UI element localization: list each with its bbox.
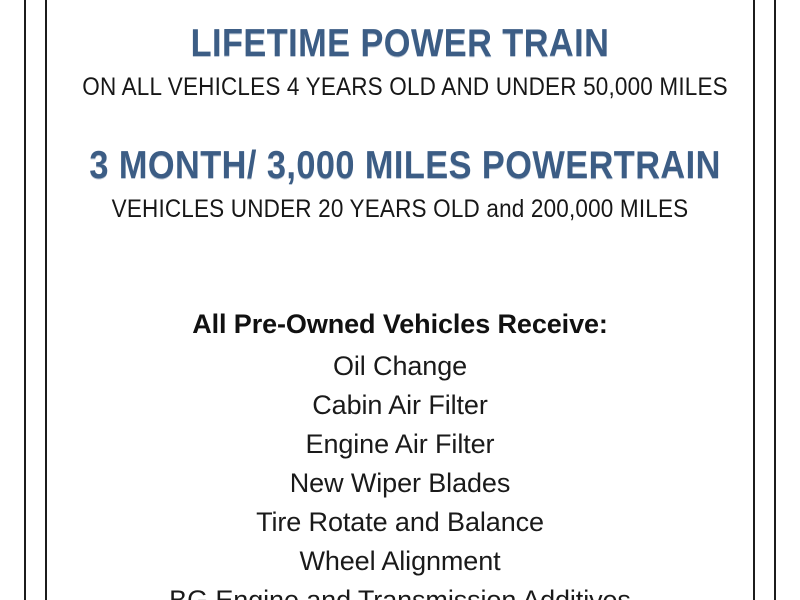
services-section-title: All Pre-Owned Vehicles Receive: [47,308,753,341]
service-item: New Wiper Blades [47,464,753,503]
service-item: Tire Rotate and Balance [47,503,753,542]
frame-rule-left-outer [24,0,26,600]
frame-rule-right-outer [774,0,776,600]
warranty-flyer: LIFETIME POWER TRAIN ON ALL VEHICLES 4 Y… [0,0,800,600]
service-item: Oil Change [47,347,753,386]
frame-rule-right-inner [753,0,755,600]
service-item: BG Engine and Transmission Additives [47,581,753,600]
three-month-powertrain-headline: 3 MONTH/ 3,000 MILES POWERTRAIN [89,144,710,188]
warranty-block-lifetime: LIFETIME POWER TRAIN ON ALL VEHICLES 4 Y… [47,0,753,102]
lifetime-powertrain-headline: LIFETIME POWER TRAIN [89,22,710,66]
lifetime-powertrain-subline: ON ALL VEHICLES 4 YEARS OLD AND UNDER 50… [82,72,717,102]
service-item: Wheel Alignment [47,542,753,581]
warranty-block-three-month: 3 MONTH/ 3,000 MILES POWERTRAIN VEHICLES… [47,102,753,224]
services-section: All Pre-Owned Vehicles Receive: Oil Chan… [47,224,753,600]
service-item: Engine Air Filter [47,425,753,464]
three-month-powertrain-subline: VEHICLES UNDER 20 YEARS OLD and 200,000 … [82,194,717,224]
flyer-content: LIFETIME POWER TRAIN ON ALL VEHICLES 4 Y… [47,0,753,600]
service-item: Cabin Air Filter [47,386,753,425]
